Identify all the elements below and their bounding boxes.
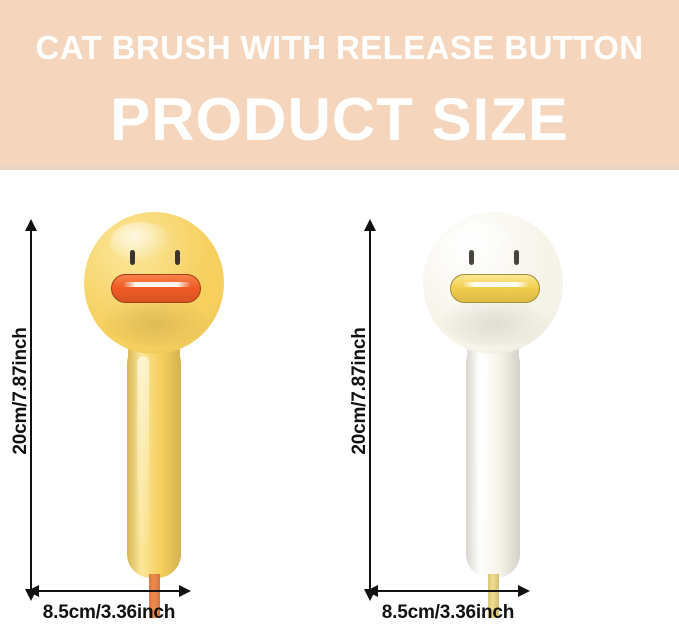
cat-brush-white xyxy=(405,212,585,632)
width-dimension-label-yellow: 8.5cm/3.36inch xyxy=(16,602,202,624)
handle-highlight xyxy=(476,356,488,546)
arrow-right-icon xyxy=(179,585,191,597)
header-banner: CAT BRUSH WITH RELEASE BUTTON PRODUCT SI… xyxy=(0,0,679,170)
product-diagram-stage: 20cm/7.87inch 8.5cm/3.36inch xyxy=(0,170,679,637)
arrow-left-icon xyxy=(27,585,39,597)
brush-handle-white xyxy=(466,338,520,578)
width-dimension-label-white: 8.5cm/3.36inch xyxy=(355,602,541,624)
eye-right-icon xyxy=(175,250,180,265)
height-dimension-label-white: 20cm/7.87inch xyxy=(349,296,371,486)
product-yellow-group: 20cm/7.87inch 8.5cm/3.36inch xyxy=(10,170,340,637)
button-highlight xyxy=(462,282,530,287)
arrow-up-icon xyxy=(364,219,376,231)
eye-left-icon xyxy=(469,250,474,265)
arrow-up-icon xyxy=(25,219,37,231)
height-dimension-line-yellow: 20cm/7.87inch xyxy=(30,230,32,590)
head-shadow xyxy=(443,298,547,346)
width-dimension-line-yellow: 8.5cm/3.36inch xyxy=(38,590,180,592)
head-highlight xyxy=(110,222,172,262)
eye-left-icon xyxy=(130,250,135,265)
release-button-yellow[interactable] xyxy=(111,274,201,303)
brush-head-white xyxy=(423,212,563,354)
head-highlight xyxy=(449,222,511,262)
banner-title: PRODUCT SIZE xyxy=(0,88,679,152)
eye-right-icon xyxy=(514,250,519,265)
arrow-left-icon xyxy=(366,585,378,597)
brush-handle-yellow xyxy=(127,338,181,578)
brush-head-yellow xyxy=(84,212,224,354)
release-button-white[interactable] xyxy=(450,274,540,303)
cat-brush-yellow xyxy=(66,212,246,632)
height-dimension-label-yellow: 20cm/7.87inch xyxy=(10,296,32,486)
head-shadow xyxy=(104,298,208,346)
width-dimension-line-white: 8.5cm/3.36inch xyxy=(377,590,519,592)
product-white-group: 20cm/7.87inch 8.5cm/3.36inch xyxy=(349,170,679,637)
height-dimension-line-white: 20cm/7.87inch xyxy=(369,230,371,590)
button-highlight xyxy=(123,282,191,287)
arrow-right-icon xyxy=(518,585,530,597)
banner-subtitle: CAT BRUSH WITH RELEASE BUTTON xyxy=(0,28,679,68)
handle-highlight xyxy=(137,356,149,546)
